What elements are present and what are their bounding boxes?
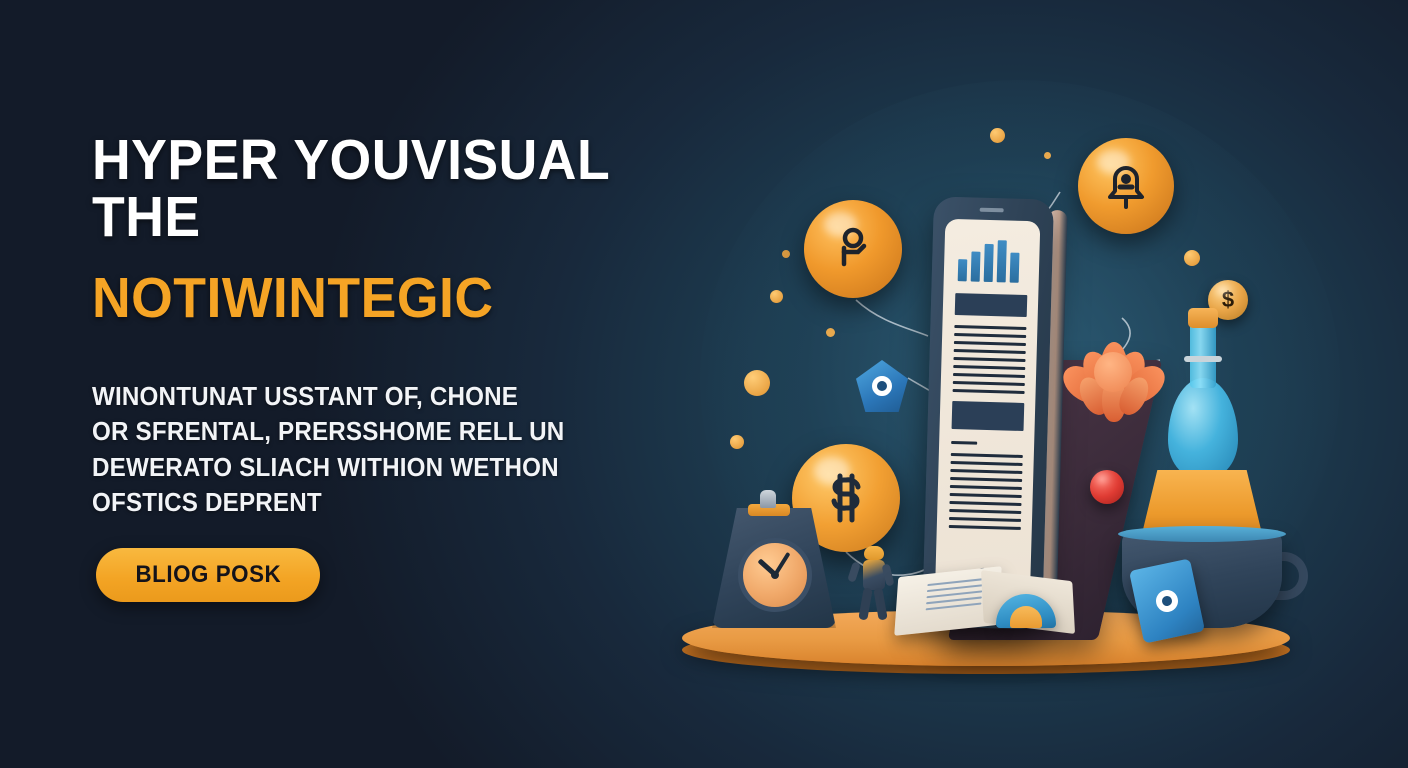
body-line-2: OR SFRENTAL, PRERSSHOME RELL UN (92, 414, 566, 449)
body-copy: WINONTUNAT USSTANT OF, CHONE OR SFRENTAL… (92, 379, 566, 520)
dot-9 (782, 250, 790, 258)
dot-5 (744, 370, 770, 396)
person-icon (804, 200, 902, 298)
screen-text-line (953, 365, 1025, 370)
chart-bar (984, 244, 994, 282)
dot-1 (990, 128, 1005, 143)
worker-figure (850, 546, 894, 624)
phone-speaker (980, 208, 1004, 213)
dot-4 (826, 328, 835, 337)
screen-text-line (954, 349, 1026, 354)
hero-banner: HYPER YOUVISUAL THE NOTIWINTEGIC WINONTU… (0, 0, 1408, 768)
dot-7 (1184, 250, 1200, 266)
dollar-icon (792, 444, 900, 552)
screen-text-line (949, 509, 1021, 514)
target-ring-icon (872, 376, 892, 396)
screen-text-line (954, 341, 1026, 346)
mouse-inner (1010, 606, 1042, 628)
screen-text-line (950, 469, 1022, 474)
blog-post-cta-button[interactable]: BLIOG POSK (96, 548, 320, 602)
glass-vase-band (1184, 356, 1222, 362)
screen-text-line (950, 477, 1022, 482)
chart-bar (997, 240, 1007, 282)
phone-screen (935, 219, 1041, 610)
figure-leg-left (858, 587, 872, 620)
clock-center-pin (771, 571, 779, 579)
screen-text-line (953, 373, 1025, 378)
bell-icon (1078, 138, 1174, 234)
dollar-bubble (792, 444, 900, 552)
screen-text-line (951, 461, 1023, 466)
page-title: HYPER YOUVISUAL THE (92, 132, 675, 246)
screen-text-line (949, 525, 1021, 530)
body-line-1: WINONTUNAT USSTANT OF, CHONE (92, 379, 566, 414)
cup-rim (1118, 526, 1286, 542)
chart-bar (971, 251, 981, 281)
body-line-3: DEWERATO SLIACH WITHION WETHON (92, 450, 566, 485)
bell-bubble (1078, 138, 1174, 234)
dot-6 (730, 435, 744, 449)
target-ring-icon (1154, 588, 1180, 614)
smartphone (922, 196, 1054, 629)
screen-header-block (955, 293, 1028, 317)
cta-label: BLIOG POSK (135, 561, 281, 589)
screen-mid-block (952, 401, 1025, 431)
figure-leg-right (873, 587, 887, 620)
screen-bar-chart (958, 239, 1027, 283)
glass-vase-cork (1188, 308, 1218, 328)
screen-text-line (953, 381, 1025, 386)
red-sphere (1090, 470, 1124, 504)
screen-text-line (950, 493, 1022, 498)
screen-text-line (951, 441, 977, 445)
screen-text-line (954, 325, 1026, 330)
screen-text-line (949, 517, 1021, 522)
screen-text-line (954, 333, 1026, 338)
glass-vase-neck (1190, 322, 1216, 388)
body-line-4: OFSTICS DEPRENT (92, 485, 566, 520)
screen-text-line (949, 501, 1021, 506)
dot-3 (770, 290, 783, 303)
screen-text-line (950, 485, 1022, 490)
clock-knob (760, 490, 776, 508)
chart-bar (958, 259, 968, 281)
chart-bar (1010, 253, 1020, 283)
coin-symbol: $ (1222, 287, 1234, 313)
page-subtitle-accent: NOTIWINTEGIC (92, 270, 675, 327)
hero-illustration: $ (660, 60, 1360, 720)
screen-text-line (953, 389, 1025, 394)
figure-arm-left (847, 561, 861, 582)
screen-text-line (953, 357, 1025, 362)
dot-2 (1044, 152, 1051, 159)
user-bubble (804, 200, 902, 298)
copy-block: HYPER YOUVISUAL THE NOTIWINTEGIC WINONTU… (92, 132, 712, 520)
figure-torso (863, 560, 885, 590)
screen-text-line (951, 453, 1023, 458)
lotus-flower (1064, 330, 1162, 422)
